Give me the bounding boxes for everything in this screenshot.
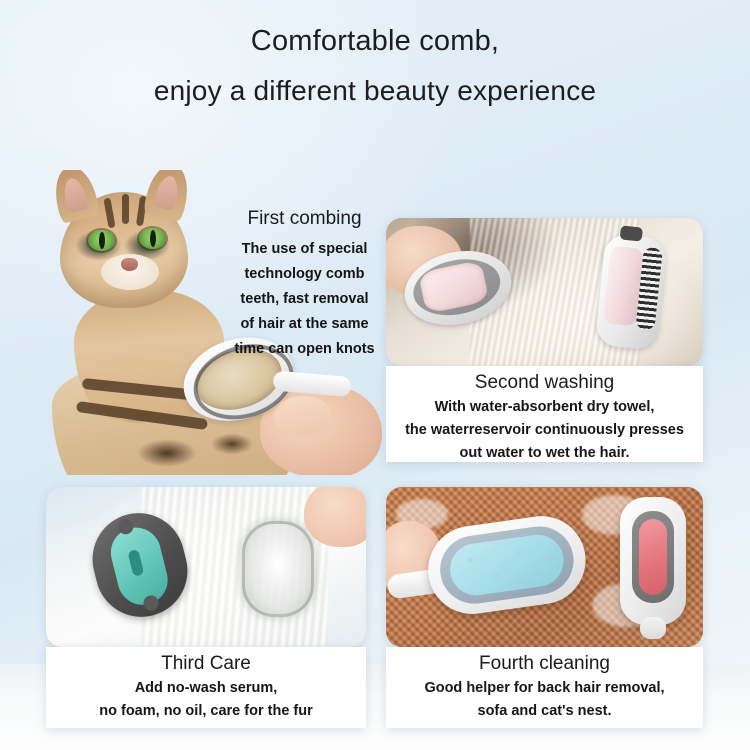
panel-second-washing-desc: With water-absorbent dry towel, the wate… (386, 396, 703, 465)
cat-forehead-stripe-2 (122, 194, 129, 224)
desc-line: out water to wet the hair. (386, 442, 703, 465)
desc-line: Add no-wash serum, (46, 677, 366, 700)
panel-second-washing-photo (386, 218, 703, 366)
tool-stem (640, 617, 666, 639)
brush-side-view (586, 232, 680, 356)
panel-first-combing-caption: First combing The use of special technol… (222, 206, 387, 362)
panel-second-washing-title: Second washing (386, 370, 703, 396)
hand (304, 487, 366, 547)
pink-brush-tool (616, 497, 690, 637)
brush-button (620, 225, 643, 241)
headline-line-1: Comfortable comb, (0, 22, 750, 60)
panel-first-combing-title: First combing (222, 206, 387, 232)
panel-fourth-cleaning-title: Fourth cleaning (386, 651, 703, 677)
panel-third-care-title: Third Care (46, 651, 366, 677)
desc-line: Good helper for back hair removal, (386, 677, 703, 700)
panel-second-washing-caption: Second washing With water-absorbent dry … (386, 366, 703, 462)
headline-line-2: enjoy a different beauty experience (0, 72, 750, 110)
desc-line: of hair at the same (222, 312, 387, 337)
desc-line: time can open knots (222, 337, 387, 362)
desc-line: With water-absorbent dry towel, (386, 396, 703, 419)
headline: Comfortable comb, enjoy a different beau… (0, 22, 750, 110)
cat-nose (121, 258, 138, 271)
pink-pad (639, 519, 667, 595)
panel-fourth-cleaning-caption: Fourth cleaning Good helper for back hai… (386, 647, 703, 728)
desc-line: sofa and cat's nest. (386, 700, 703, 723)
desc-line: The use of special (222, 237, 387, 262)
collected-hair-clump (242, 521, 314, 617)
desc-line: technology comb (222, 262, 387, 287)
cat-eye-left (88, 230, 115, 251)
cat-eye-right (139, 228, 166, 249)
desc-line: no foam, no oil, care for the fur (46, 700, 366, 723)
cat-ear-left (49, 170, 100, 224)
panel-third-care-photo (46, 487, 366, 647)
panel-first-combing-desc: The use of special technology comb teeth… (222, 237, 387, 362)
panel-fourth-cleaning-photo (386, 487, 703, 647)
panel-fourth-cleaning-desc: Good helper for back hair removal, sofa … (386, 677, 703, 723)
product-infographic: Comfortable comb, enjoy a different beau… (0, 0, 750, 750)
desc-line: the waterreservoir continuously presses (386, 419, 703, 442)
panel-third-care-desc: Add no-wash serum, no foam, no oil, care… (46, 677, 366, 723)
desc-line: teeth, fast removal (222, 287, 387, 312)
cat-ear-right (142, 170, 193, 222)
panel-third-care-caption: Third Care Add no-wash serum, no foam, n… (46, 647, 366, 728)
cat-forehead-stripe-1 (103, 198, 115, 229)
